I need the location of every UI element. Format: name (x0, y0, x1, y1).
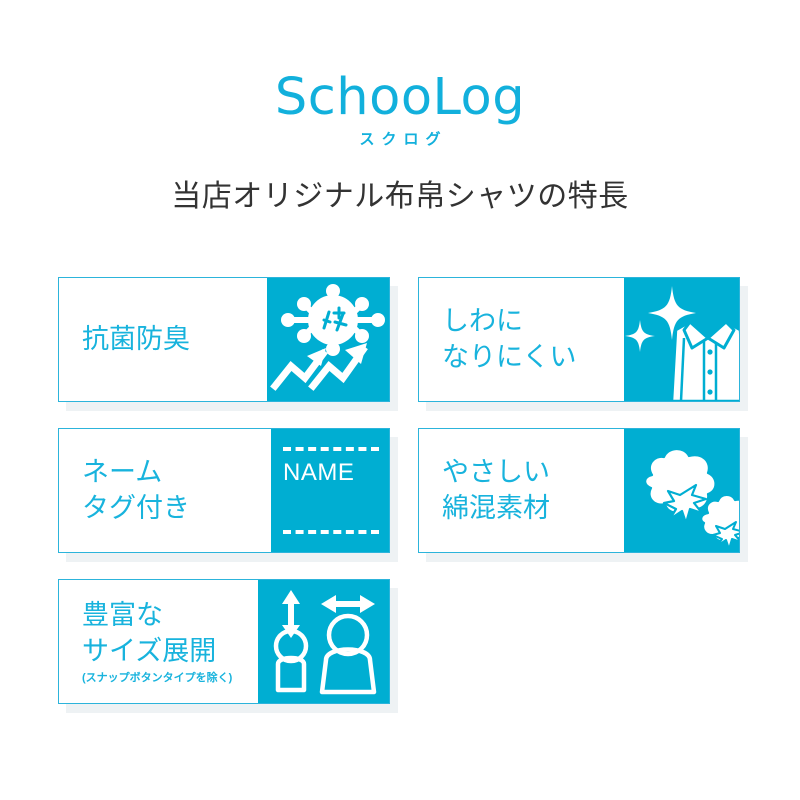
feature-row: 豊富な サイズ展開 (スナップボタンタイプを除く) (58, 579, 742, 704)
feature-label-line: なりにくい (442, 340, 618, 376)
feature-grid: 抗菌防臭 (58, 277, 742, 704)
feature-card-wrinkle-resistant: しわに なりにくい (418, 277, 740, 402)
promo-page: SchooLog スクログ 当店オリジナル布帛シャツの特長 抗菌防臭 (0, 0, 800, 800)
feature-label-line: 豊富な (82, 598, 252, 634)
feature-label: 抗菌防臭 (59, 278, 267, 401)
size-people-icon (258, 580, 389, 703)
feature-card-antibacterial-deodorant: 抗菌防臭 (58, 277, 390, 402)
brand-subtitle: スクログ (0, 132, 800, 147)
feature-label: ネーム タグ付き (59, 429, 271, 552)
feature-row: 抗菌防臭 (58, 277, 742, 402)
feature-label-line: やさしい (442, 455, 618, 491)
feature-label: 豊富な サイズ展開 (スナップボタンタイプを除く) (59, 580, 258, 703)
feature-label: やさしい 綿混素材 (419, 429, 624, 552)
name-tag-dash-top (283, 447, 379, 451)
feature-label-line: タグ付き (82, 491, 265, 527)
feature-label-line: しわに (442, 304, 618, 340)
name-tag-text: NAME (283, 461, 379, 485)
name-tag-icon: NAME (271, 429, 389, 552)
feature-card-name-tag-included: ネーム タグ付き NAME (58, 428, 390, 553)
feature-label-line: ネーム (82, 455, 265, 491)
feature-card-gentle-cotton-blend: やさしい 綿混素材 (418, 428, 740, 553)
feature-card-wide-size-range: 豊富な サイズ展開 (スナップボタンタイプを除く) (58, 579, 390, 704)
brand-logo: SchooLog スクログ (0, 72, 800, 147)
page-title: 当店オリジナル布帛シャツの特長 (0, 178, 800, 216)
feature-label-line: サイズ展開 (82, 634, 252, 670)
brand-wordmark: SchooLog (0, 72, 800, 123)
cotton-boll-icon (624, 429, 739, 552)
feature-label-line: 綿混素材 (442, 491, 618, 527)
name-tag-graphic: NAME (271, 429, 389, 552)
feature-label-line: 抗菌防臭 (82, 322, 261, 358)
virus-arrows-icon (267, 278, 389, 401)
feature-label: しわに なりにくい (419, 278, 624, 401)
name-tag-dash-bottom (283, 530, 379, 534)
feature-row: ネーム タグ付き NAME やさしい 綿混素材 (58, 428, 742, 553)
feature-label-note: (スナップボタンタイプを除く) (82, 672, 252, 685)
sparkling-shirt-icon (624, 278, 739, 401)
